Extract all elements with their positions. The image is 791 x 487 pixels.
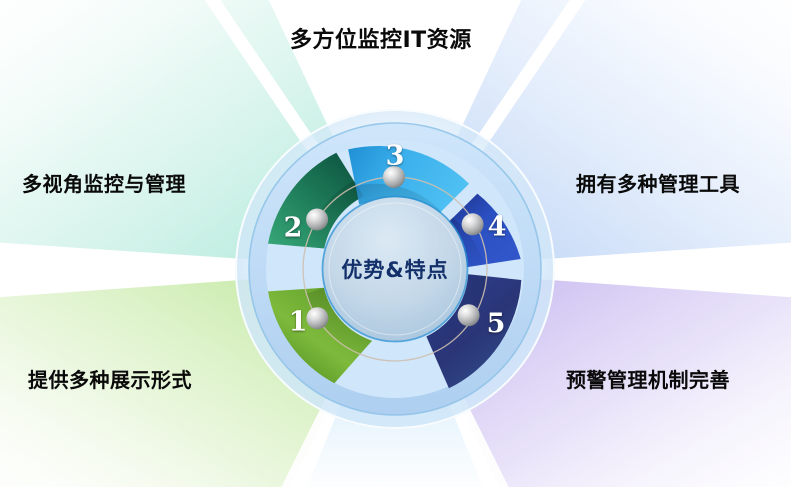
label-left-lower: 提供多种展示形式 (28, 364, 192, 393)
segment-number-3: 3 (386, 141, 405, 172)
marker-sphere-1[interactable] (306, 307, 328, 329)
segment-number-4: 4 (488, 212, 507, 243)
segment-number-2: 2 (284, 213, 303, 244)
diagram-canvas: 1 2 3 4 5 优势&特点 多方位监控IT资源 多视角监控与管理 提供多种展… (0, 0, 791, 487)
marker-sphere-5[interactable] (458, 304, 480, 326)
label-right-lower: 预警管理机制完善 (566, 364, 730, 393)
segment-number-1: 1 (289, 307, 308, 338)
marker-sphere-2[interactable] (306, 209, 328, 231)
center-label: 优势&特点 (341, 254, 448, 284)
label-right-upper: 拥有多种管理工具 (576, 168, 740, 197)
label-top: 多方位监控IT资源 (290, 22, 472, 54)
marker-sphere-4[interactable] (462, 213, 484, 235)
label-left-upper: 多视角监控与管理 (22, 168, 186, 197)
advantage-wheel (0, 0, 791, 487)
segment-number-5: 5 (487, 309, 506, 340)
